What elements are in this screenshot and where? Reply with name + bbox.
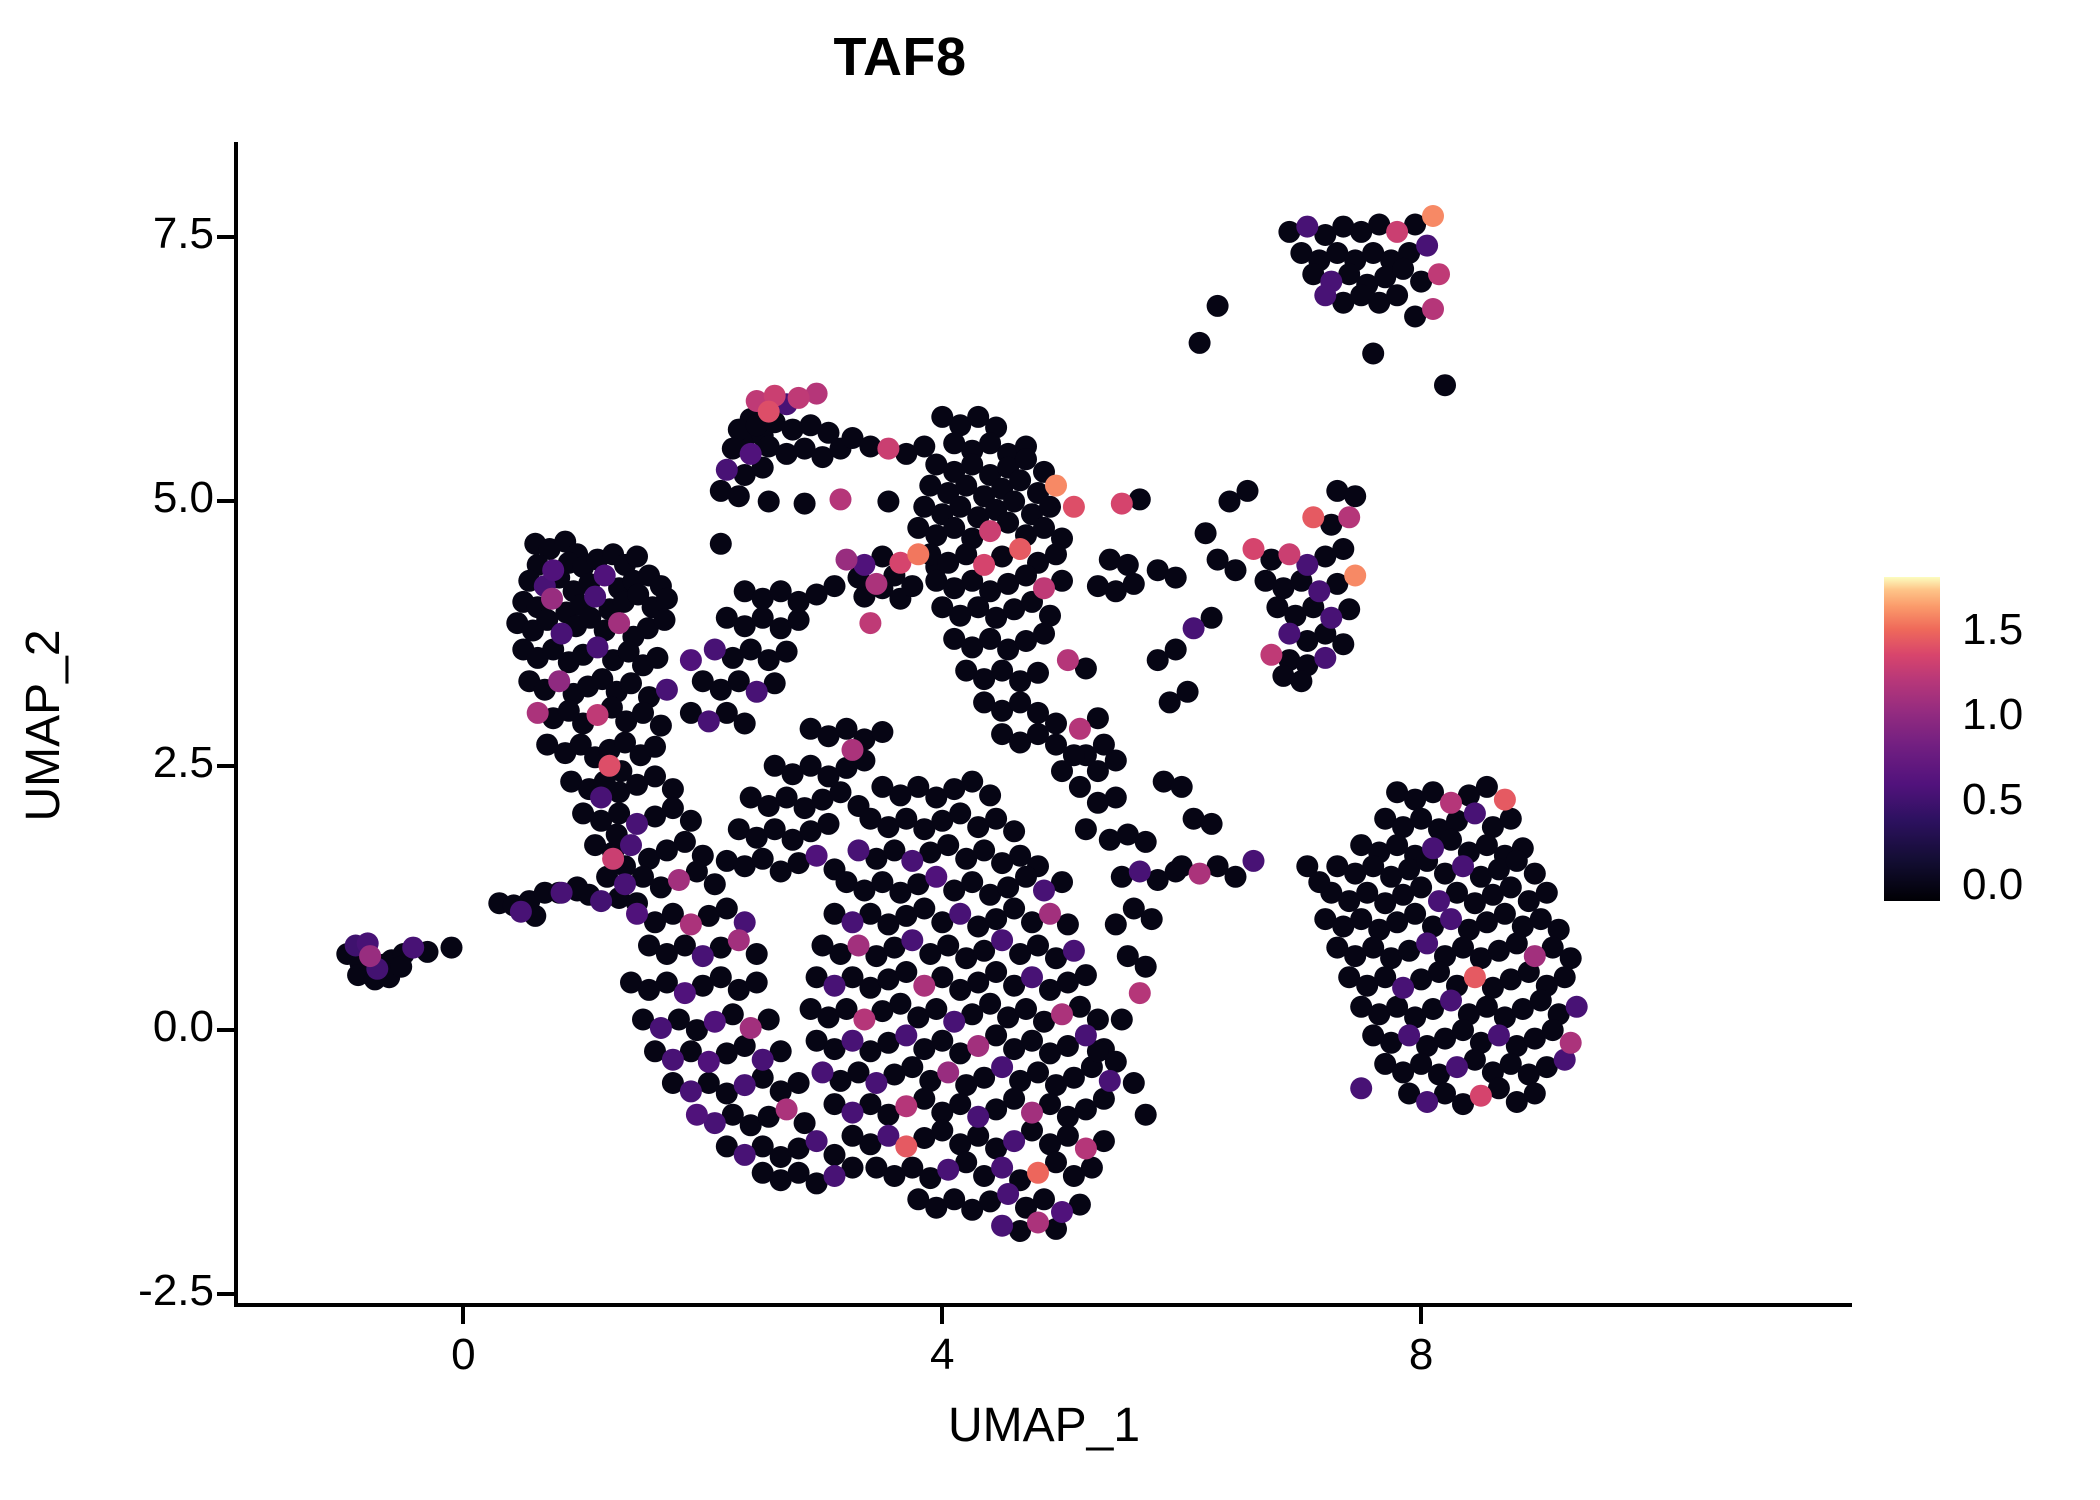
scatter-point	[985, 808, 1007, 830]
scatter-point	[758, 491, 780, 513]
colorbar-tick	[1931, 1378, 1940, 1381]
scatter-point	[680, 810, 702, 832]
scatter-point	[1081, 1157, 1103, 1179]
scatter-point	[937, 834, 959, 856]
scatter-point	[758, 401, 780, 423]
scatter-point	[1003, 898, 1025, 920]
scatter-point	[859, 612, 881, 634]
scatter-point	[1075, 1138, 1097, 1160]
scatter-point	[818, 813, 840, 835]
scatter-point	[1434, 374, 1456, 396]
scatter-point	[614, 873, 636, 895]
colorbar-legend	[1884, 577, 1940, 901]
scatter-point	[1350, 1077, 1372, 1099]
scatter-point	[991, 1056, 1013, 1078]
scatter-point	[871, 721, 893, 743]
scatter-point	[1033, 623, 1055, 645]
scatter-point	[1129, 982, 1151, 1004]
scatter-point	[895, 1095, 917, 1117]
scatter-point	[608, 612, 630, 634]
scatter-point	[824, 975, 846, 997]
scatter-point	[1009, 538, 1031, 560]
scatter-point	[1225, 559, 1247, 581]
scatter-point	[842, 1030, 864, 1052]
scatter-point	[812, 1061, 834, 1083]
scatter-point	[1051, 1003, 1073, 1025]
scatter-point	[925, 998, 947, 1020]
scatter-point	[752, 848, 774, 870]
scatter-point	[692, 945, 714, 967]
scatter-point	[668, 869, 690, 891]
scatter-point	[1021, 966, 1043, 988]
scatter-point	[979, 520, 1001, 542]
scatter-point	[1314, 284, 1336, 306]
scatter-point	[1105, 1051, 1127, 1073]
scatter-point	[776, 1098, 798, 1120]
scatter-point	[937, 1061, 959, 1083]
scatter-point	[620, 672, 642, 694]
scatter-point	[1015, 866, 1037, 888]
scatter-point	[646, 647, 668, 669]
scatter-point	[961, 871, 983, 893]
scatter-point	[1129, 861, 1151, 883]
scatter-point	[889, 993, 911, 1015]
y-tick-mark	[217, 235, 234, 239]
scatter-point	[594, 565, 616, 587]
scatter-point	[1177, 681, 1199, 703]
scatter-point	[1428, 890, 1450, 912]
scatter-point	[1362, 343, 1384, 365]
scatter-point	[1314, 647, 1336, 669]
y-tick-mark	[217, 1028, 234, 1032]
scatter-point	[1045, 713, 1067, 735]
y-tick-label: 2.5	[153, 738, 214, 788]
scatter-point	[1003, 820, 1025, 842]
scatter-point	[551, 882, 573, 904]
scatter-point	[710, 966, 732, 988]
scatter-point	[877, 491, 899, 513]
scatter-point	[590, 787, 612, 809]
y-axis-title: UMAP_2	[16, 144, 71, 1307]
scatter-point	[925, 866, 947, 888]
scatter-point	[1027, 935, 1049, 957]
scatter-point	[734, 1144, 756, 1166]
scatter-point	[991, 1215, 1013, 1237]
scatter-point	[650, 715, 672, 737]
scatter-point	[1165, 639, 1187, 661]
x-axis-title: UMAP_1	[236, 1398, 1852, 1453]
scatter-point	[973, 554, 995, 576]
colorbar-tick-label: 0.5	[1962, 775, 2023, 825]
scatter-point	[1015, 448, 1037, 470]
scatter-point	[1494, 903, 1516, 925]
scatter-point	[632, 702, 654, 724]
scatter-point	[973, 839, 995, 861]
scatter-point	[626, 813, 648, 835]
y-tick-mark	[217, 1292, 234, 1296]
scatter-point	[656, 588, 678, 610]
scatter-point	[991, 929, 1013, 951]
scatter-point	[1237, 480, 1259, 502]
y-tick-mark	[217, 764, 234, 768]
scatter-point	[1536, 882, 1558, 904]
scatter-point	[1440, 908, 1462, 930]
colorbar-tick	[1931, 1293, 1940, 1296]
colorbar-tick	[1931, 1208, 1940, 1211]
scatter-point	[794, 1112, 816, 1134]
scatter-point	[746, 943, 768, 965]
scatter-point	[1015, 565, 1037, 587]
scatter-point	[895, 1135, 917, 1157]
scatter-point	[1524, 945, 1546, 967]
scatter-point	[1320, 607, 1342, 629]
scatter-point	[1135, 956, 1157, 978]
scatter-point	[1069, 718, 1091, 740]
scatter-point	[1105, 787, 1127, 809]
y-tick-label: 0.0	[153, 1002, 214, 1052]
scatter-point	[599, 755, 621, 777]
scatter-point	[836, 549, 858, 571]
scatter-point	[967, 1106, 989, 1128]
colorbar-gradient	[1884, 577, 1940, 901]
scatter-point	[806, 845, 828, 867]
scatter-point	[931, 1030, 953, 1052]
scatter-point	[1027, 1061, 1049, 1083]
scatter-point	[1422, 205, 1444, 227]
scatter-point	[824, 1165, 846, 1187]
scatter-point	[1506, 932, 1528, 954]
scatter-point	[704, 873, 726, 895]
scatter-point	[704, 639, 726, 661]
scatter-point	[602, 848, 624, 870]
scatter-point	[1506, 850, 1528, 872]
scatter-point	[710, 533, 732, 555]
scatter-point	[1021, 1102, 1043, 1124]
scatter-point	[943, 1011, 965, 1033]
scatter-point	[728, 929, 750, 951]
scatter-point	[848, 839, 870, 861]
scatter-point	[1440, 792, 1462, 814]
scatter-point	[1386, 221, 1408, 243]
scatter-point	[752, 1049, 774, 1071]
scatter-point	[1201, 813, 1223, 835]
scatter-point	[937, 935, 959, 957]
scatter-point	[931, 1120, 953, 1142]
scatter-point	[510, 901, 532, 923]
scatter-point	[1452, 1019, 1474, 1041]
scatter-point	[967, 1035, 989, 1057]
scatter-point	[584, 586, 606, 608]
scatter-point	[587, 704, 609, 726]
scatter-point	[1105, 913, 1127, 935]
scatter-point	[680, 1080, 702, 1102]
scatter-point	[1440, 990, 1462, 1012]
colorbar-tick	[1884, 1463, 1893, 1466]
scatter-point	[842, 1102, 864, 1124]
scatter-point	[650, 1017, 672, 1039]
scatter-point	[937, 1159, 959, 1181]
scatter-point	[979, 784, 1001, 806]
colorbar-tick-label: 1.0	[1962, 690, 2023, 740]
scatter-point	[1063, 940, 1085, 962]
scatter-point	[1003, 1088, 1025, 1110]
scatter-point	[704, 1011, 726, 1033]
scatter-point	[1392, 258, 1414, 280]
scatter-point	[824, 1144, 846, 1166]
colorbar-tick	[1884, 1293, 1893, 1296]
scatter-point	[1422, 837, 1444, 859]
colorbar-tick-label: 0.0	[1962, 860, 2023, 910]
scatter-point	[1278, 623, 1300, 645]
scatter-point	[1075, 1024, 1097, 1046]
scatter-point	[1344, 565, 1366, 587]
scatter-point	[1063, 744, 1085, 766]
scatter-point	[1027, 1212, 1049, 1234]
scatter-point	[686, 1104, 708, 1126]
scatter-point	[1524, 863, 1546, 885]
scatter-point	[1386, 284, 1408, 306]
scatter-point	[1075, 964, 1097, 986]
scatter-point	[901, 1056, 923, 1078]
scatter-point	[1063, 496, 1085, 518]
scatter-point	[1093, 734, 1115, 756]
scatter-point	[1428, 961, 1450, 983]
scatter-point	[1021, 1030, 1043, 1052]
scatter-point	[390, 956, 412, 978]
scatter-point	[746, 681, 768, 703]
scatter-point	[788, 1072, 810, 1094]
scatter-point	[913, 898, 935, 920]
scatter-point	[1189, 332, 1211, 354]
scatter-point	[1290, 670, 1312, 692]
scatter-point	[1308, 580, 1330, 602]
page-title: TAF8	[0, 26, 1800, 88]
scatter-point	[901, 929, 923, 951]
scatter-point	[620, 834, 642, 856]
scatter-point	[1392, 977, 1414, 999]
scatter-point	[1135, 831, 1157, 853]
scatter-point	[1488, 1024, 1510, 1046]
scatter-point	[1033, 1188, 1055, 1210]
scatter-point	[1332, 538, 1354, 560]
scatter-point	[1302, 506, 1324, 528]
scatter-point	[877, 438, 899, 460]
scatter-point	[740, 1017, 762, 1039]
scatter-point	[1308, 871, 1330, 893]
scatter-point	[1410, 876, 1432, 898]
scatter-point	[1554, 966, 1576, 988]
scatter-point	[848, 935, 870, 957]
scatter-point	[1051, 1201, 1073, 1223]
scatter-point	[1141, 908, 1163, 930]
scatter-point	[1027, 1162, 1049, 1184]
scatter-point	[590, 890, 612, 912]
scatter-point	[746, 972, 768, 994]
scatter-point	[1003, 491, 1025, 513]
colorbar-tick	[1884, 1208, 1893, 1211]
scatter-point	[913, 975, 935, 997]
scatter-point	[441, 937, 463, 959]
scatter-point	[1069, 776, 1091, 798]
x-tick-mark	[1419, 1307, 1423, 1324]
y-tick-mark	[217, 499, 234, 503]
scatter-point	[1494, 789, 1516, 811]
scatter-point	[1464, 802, 1486, 824]
colorbar-tick	[1884, 1378, 1893, 1381]
scatter-point	[842, 911, 864, 933]
scatter-point	[654, 609, 676, 631]
scatter-point	[842, 739, 864, 761]
scatter-point	[680, 913, 702, 935]
scatter-point	[901, 575, 923, 597]
scatter-point	[788, 387, 810, 409]
scatter-point	[662, 797, 684, 819]
scatter-point	[1075, 818, 1097, 840]
scatter-point	[1422, 298, 1444, 320]
scatter-point	[734, 713, 756, 735]
scatter-point	[1111, 493, 1133, 515]
scatter-point	[901, 850, 923, 872]
scatter-point	[548, 670, 570, 692]
x-tick-label: 4	[882, 1330, 1002, 1380]
scatter-point	[587, 636, 609, 658]
scatter-point	[1189, 863, 1211, 885]
scatter-point	[1057, 1125, 1079, 1147]
scatter-point	[913, 436, 935, 458]
scatter-point	[527, 702, 549, 724]
scatter-point	[1057, 649, 1079, 671]
scatter-point	[680, 649, 702, 671]
scatter-point	[359, 945, 381, 967]
scatter-points-layer	[236, 142, 1852, 1305]
scatter-point	[1039, 496, 1061, 518]
y-tick-label: 7.5	[153, 209, 214, 259]
scatter-point	[1464, 966, 1486, 988]
scatter-point	[979, 993, 1001, 1015]
scatter-point	[1243, 538, 1265, 560]
scatter-point	[985, 961, 1007, 983]
scatter-point	[402, 937, 424, 959]
scatter-point	[1045, 543, 1067, 565]
scatter-point	[1500, 876, 1522, 898]
colorbar-tick	[1931, 1463, 1940, 1466]
scatter-point	[1009, 469, 1031, 491]
scatter-point	[626, 546, 648, 568]
scatter-point	[740, 443, 762, 465]
scatter-point	[895, 961, 917, 983]
scatter-point	[674, 831, 696, 853]
scatter-point	[1033, 577, 1055, 599]
scatter-point	[728, 485, 750, 507]
x-tick-label: 8	[1361, 1330, 1481, 1380]
scatter-point	[1428, 263, 1450, 285]
scatter-point	[1338, 506, 1360, 528]
scatter-point	[895, 1024, 917, 1046]
scatter-point	[961, 771, 983, 793]
scatter-point	[1344, 485, 1366, 507]
scatter-point	[1117, 554, 1139, 576]
scatter-point	[644, 765, 666, 787]
scatter-point	[949, 1093, 971, 1115]
scatter-point	[1560, 1032, 1582, 1054]
scatter-point	[1296, 216, 1318, 238]
scatter-point	[1003, 1130, 1025, 1152]
scatter-point	[1542, 1019, 1564, 1041]
scatter-point	[1099, 1070, 1121, 1092]
scatter-point	[949, 802, 971, 824]
scatter-point	[806, 1130, 828, 1152]
x-tick-mark	[940, 1307, 944, 1324]
scatter-point	[1171, 776, 1193, 798]
scatter-point	[776, 641, 798, 663]
scatter-point	[626, 903, 648, 925]
scatter-point	[1243, 850, 1265, 872]
scatter-point	[865, 1072, 887, 1094]
umap-feature-plot: TAF8 -2.50.02.55.07.5 048 UMAP_1 UMAP_2 …	[0, 0, 2100, 1500]
scatter-point	[644, 736, 666, 758]
scatter-point	[1560, 947, 1582, 969]
scatter-point	[1207, 295, 1229, 317]
scatter-point	[1416, 1091, 1438, 1113]
scatter-point	[1135, 1104, 1157, 1126]
scatter-point	[716, 898, 738, 920]
scatter-point	[541, 588, 563, 610]
scatter-point	[1033, 880, 1055, 902]
scatter-point	[949, 903, 971, 925]
scatter-point	[865, 573, 887, 595]
scatter-point	[1027, 662, 1049, 684]
scatter-point	[1123, 573, 1145, 595]
scatter-point	[853, 1009, 875, 1031]
scatter-point	[1225, 866, 1247, 888]
scatter-point	[1530, 990, 1552, 1012]
scatter-point	[824, 575, 846, 597]
scatter-point	[1500, 808, 1522, 830]
scatter-point	[1260, 644, 1282, 666]
scatter-point	[907, 543, 929, 565]
scatter-point	[1039, 903, 1061, 925]
scatter-point	[542, 559, 564, 581]
scatter-point	[1278, 543, 1300, 565]
y-tick-label: 5.0	[153, 473, 214, 523]
scatter-point	[1045, 475, 1067, 497]
scatter-point	[734, 1074, 756, 1096]
scatter-point	[1404, 903, 1426, 925]
scatter-point	[656, 679, 678, 701]
scatter-point	[1332, 633, 1354, 655]
scatter-point	[716, 459, 738, 481]
scatter-point	[1195, 522, 1217, 544]
scatter-point	[1452, 855, 1474, 877]
scatter-point	[662, 778, 684, 800]
scatter-point	[698, 1051, 720, 1073]
scatter-point	[997, 1183, 1019, 1205]
scatter-point	[698, 710, 720, 732]
scatter-point	[830, 488, 852, 510]
scatter-point	[794, 493, 816, 515]
scatter-point	[662, 1049, 684, 1071]
scatter-point	[1524, 1083, 1546, 1105]
scatter-point	[1416, 235, 1438, 257]
scatter-point	[1446, 1056, 1468, 1078]
scatter-point	[991, 1157, 1013, 1179]
scatter-point	[1566, 996, 1588, 1018]
scatter-point	[1015, 998, 1037, 1020]
scatter-point	[1476, 776, 1498, 798]
scatter-point	[551, 623, 573, 645]
scatter-point	[967, 1125, 989, 1147]
scatter-point	[1416, 932, 1438, 954]
